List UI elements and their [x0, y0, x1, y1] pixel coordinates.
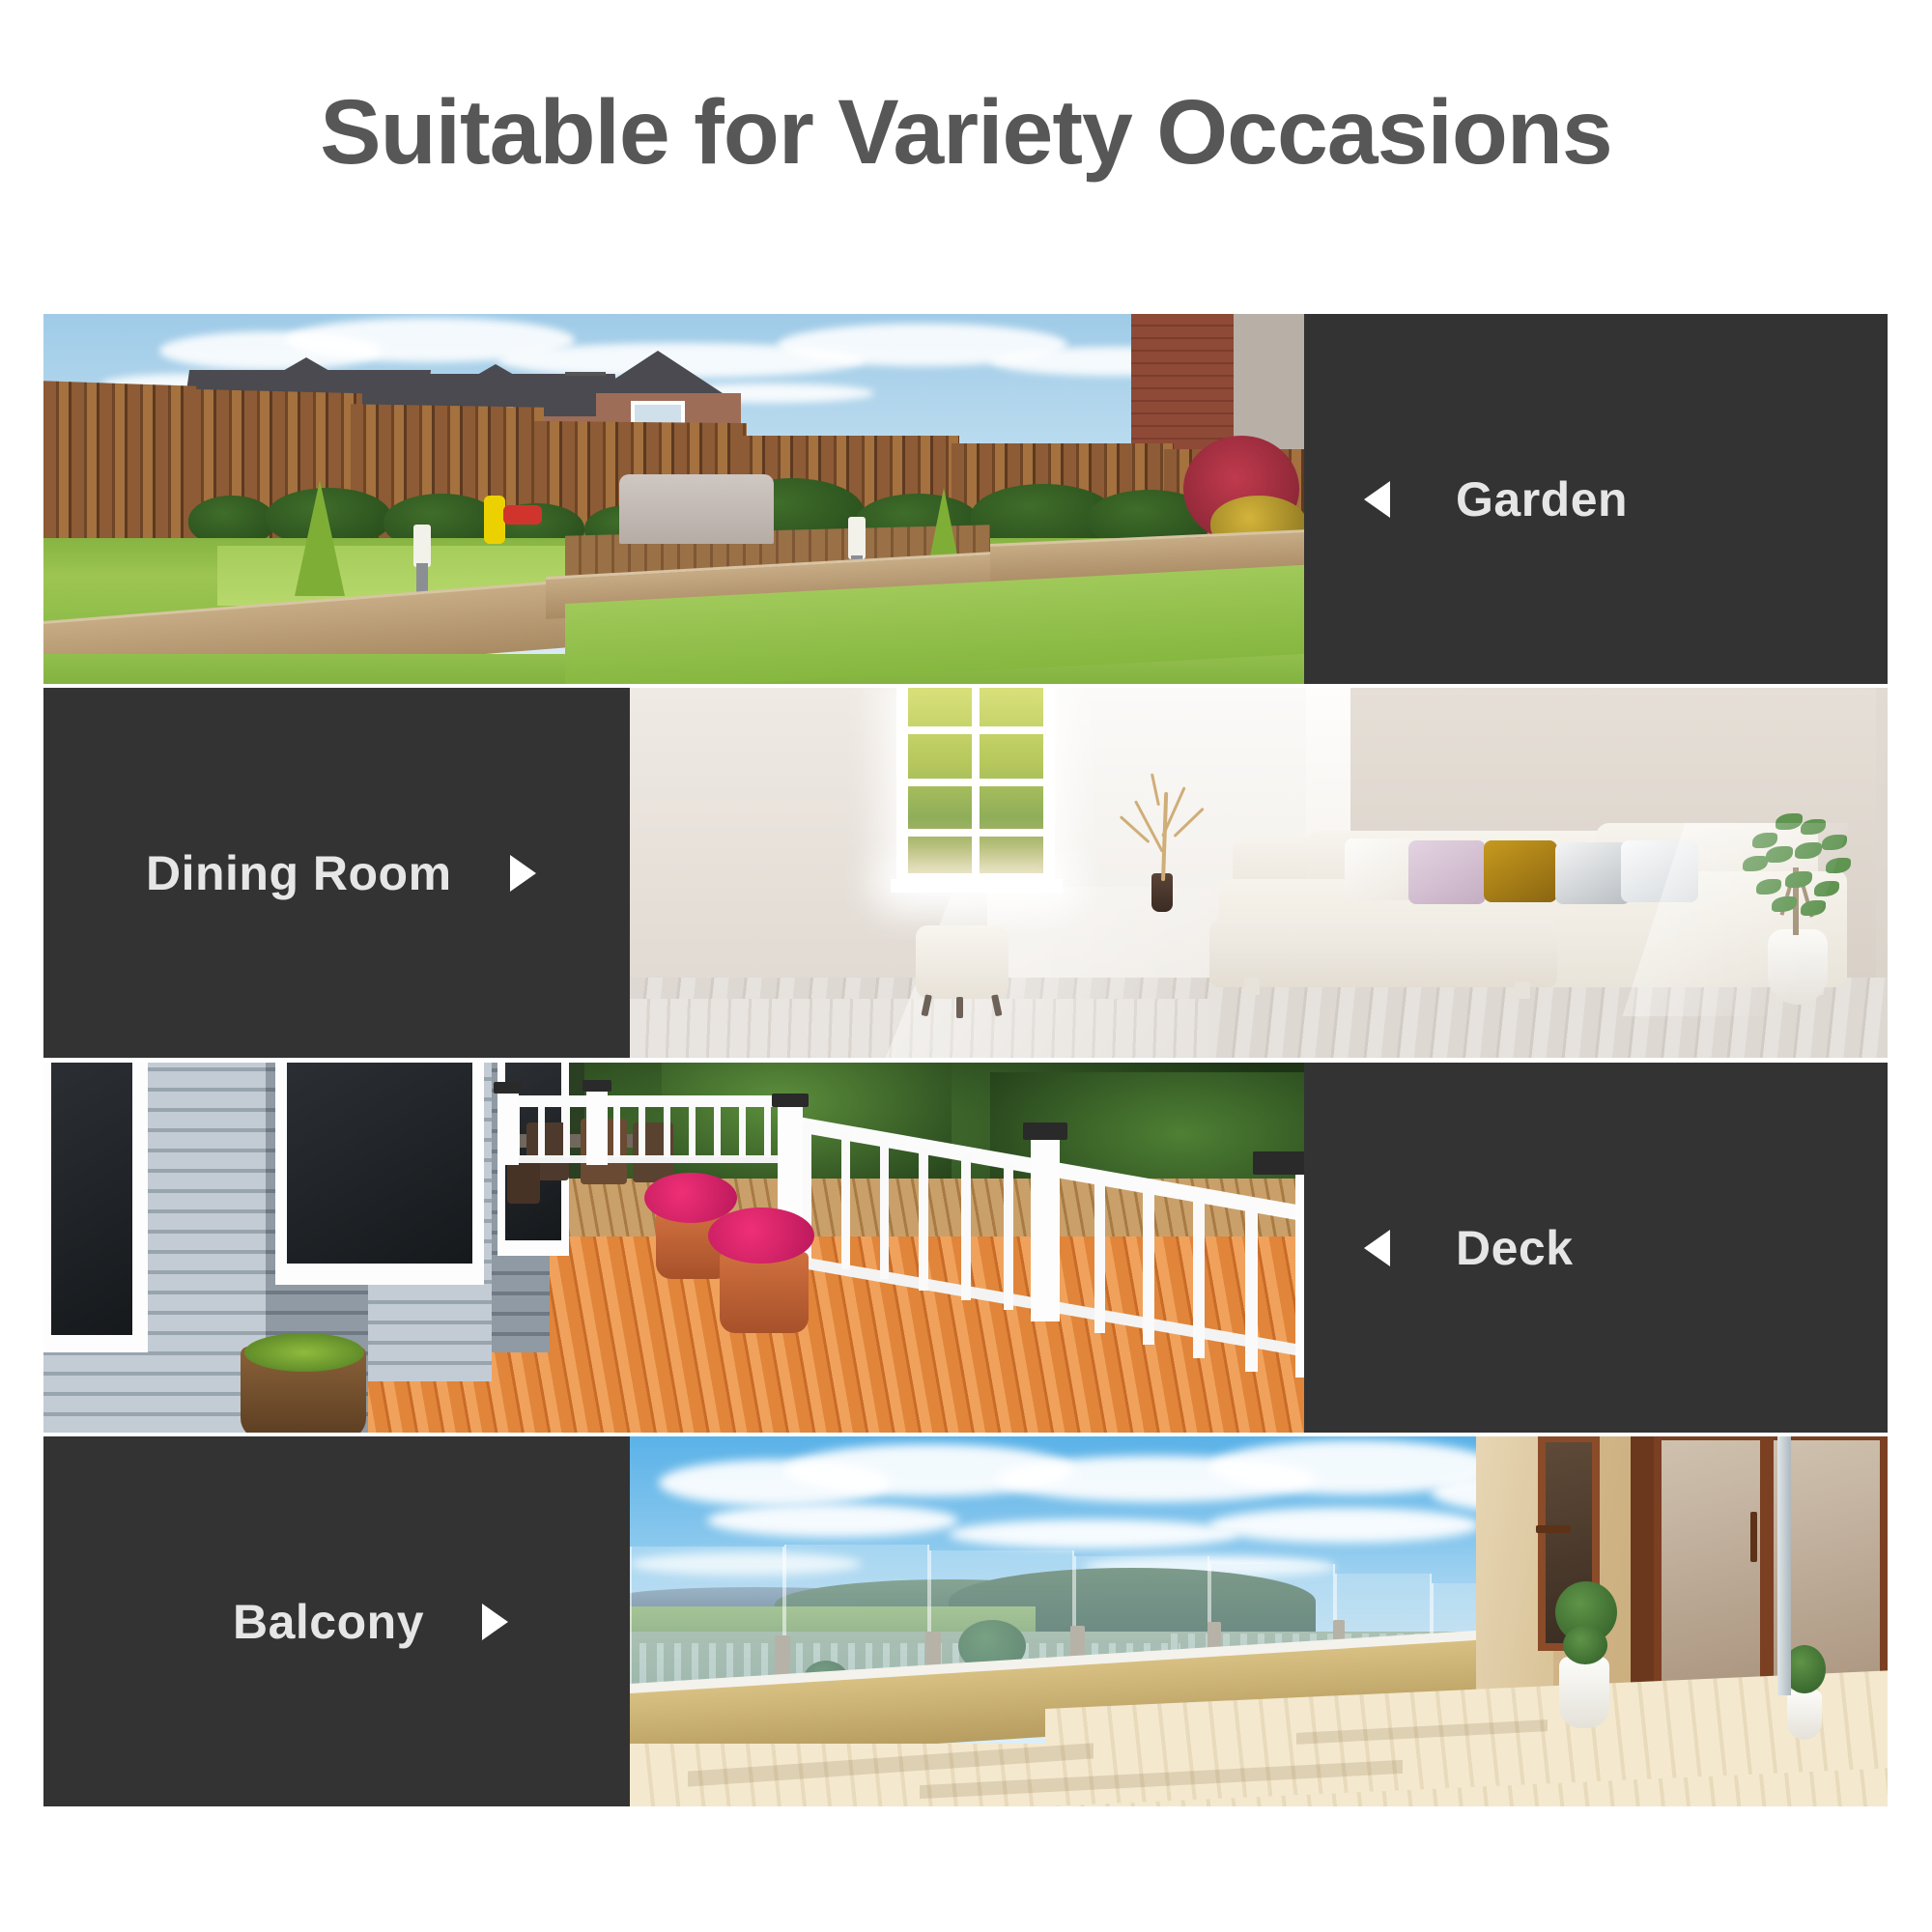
garden-label: Garden	[1456, 471, 1628, 527]
triangle-left-icon	[1364, 1230, 1390, 1266]
occasions-infographic: Suitable for Variety Occasions	[0, 0, 1932, 1932]
deck-photo	[43, 1063, 1304, 1433]
deck-label: Deck	[1456, 1220, 1574, 1276]
dining-label: Dining Room	[146, 845, 452, 901]
triangle-right-icon	[510, 855, 536, 892]
balcony-photo	[630, 1436, 1888, 1806]
page-title: Suitable for Variety Occasions	[0, 79, 1932, 185]
balcony-label: Balcony	[233, 1594, 424, 1650]
triangle-right-icon	[482, 1604, 508, 1640]
occasion-row-dining: Dining Room	[43, 688, 1888, 1058]
occasion-row-garden: Garden	[43, 314, 1888, 684]
dining-label-panel[interactable]: Dining Room	[43, 688, 630, 1058]
dining-photo	[630, 688, 1888, 1058]
triangle-left-icon	[1364, 481, 1390, 518]
occasion-row-balcony: Balcony	[43, 1436, 1888, 1806]
garden-label-panel[interactable]: Garden	[1304, 314, 1888, 684]
garden-photo	[43, 314, 1304, 684]
occasion-row-deck: Deck	[43, 1063, 1888, 1433]
balcony-label-panel[interactable]: Balcony	[43, 1436, 630, 1806]
deck-label-panel[interactable]: Deck	[1304, 1063, 1888, 1433]
